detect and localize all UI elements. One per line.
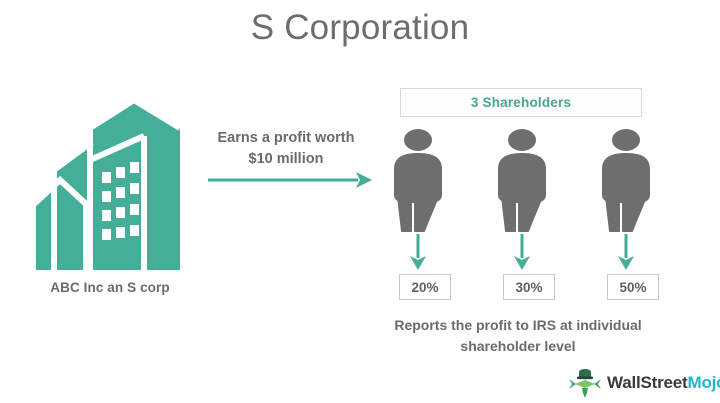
- down-arrow-icon: [590, 234, 662, 274]
- profit-flow-label: Earns a profit worth $10 million: [196, 128, 376, 170]
- ownership-percent-label: 30%: [515, 280, 542, 295]
- ownership-percent-box: 30%: [503, 274, 555, 300]
- shareholder-arrows-row: [382, 234, 662, 274]
- corporation-caption: ABC Inc an S corp: [10, 280, 210, 295]
- ownership-percent-label: 20%: [411, 280, 438, 295]
- ownership-percent-label: 50%: [619, 280, 646, 295]
- office-buildings-icon: [30, 92, 185, 272]
- person-icon: [486, 128, 558, 232]
- wallstreetmojo-logo: WallStreetMojo: [568, 366, 714, 400]
- page-title: S Corporation: [0, 8, 720, 48]
- right-arrow-icon: [208, 168, 373, 192]
- ownership-percent-box: 50%: [607, 274, 659, 300]
- irs-report-note: Reports the profit to IRS at individual …: [368, 315, 668, 357]
- irs-report-note-line2: shareholder level: [368, 336, 668, 357]
- ownership-percent-box: 20%: [399, 274, 451, 300]
- wallstreetmojo-logo-text: WallStreetMojo: [607, 373, 720, 393]
- logo-text-primary: WallStreet: [607, 373, 688, 392]
- profit-flow-line1: Earns a profit worth: [196, 128, 376, 149]
- shareholders-header-label: 3 Shareholders: [471, 95, 571, 110]
- slide-canvas: S Corporation: [0, 0, 720, 403]
- down-arrow-icon: [486, 234, 558, 274]
- shareholders-people-row: [382, 128, 662, 232]
- profit-flow-line2: $10 million: [196, 149, 376, 170]
- person-icon: [382, 128, 454, 232]
- logo-text-accent: Mojo: [688, 373, 720, 392]
- shareholders-header-box: 3 Shareholders: [400, 88, 642, 117]
- ownership-percent-row: 20% 30% 50%: [382, 274, 662, 300]
- wallstreetmojo-logo-icon: [568, 367, 602, 399]
- down-arrow-icon: [382, 234, 454, 274]
- person-icon: [590, 128, 662, 232]
- irs-report-note-line1: Reports the profit to IRS at individual: [368, 315, 668, 336]
